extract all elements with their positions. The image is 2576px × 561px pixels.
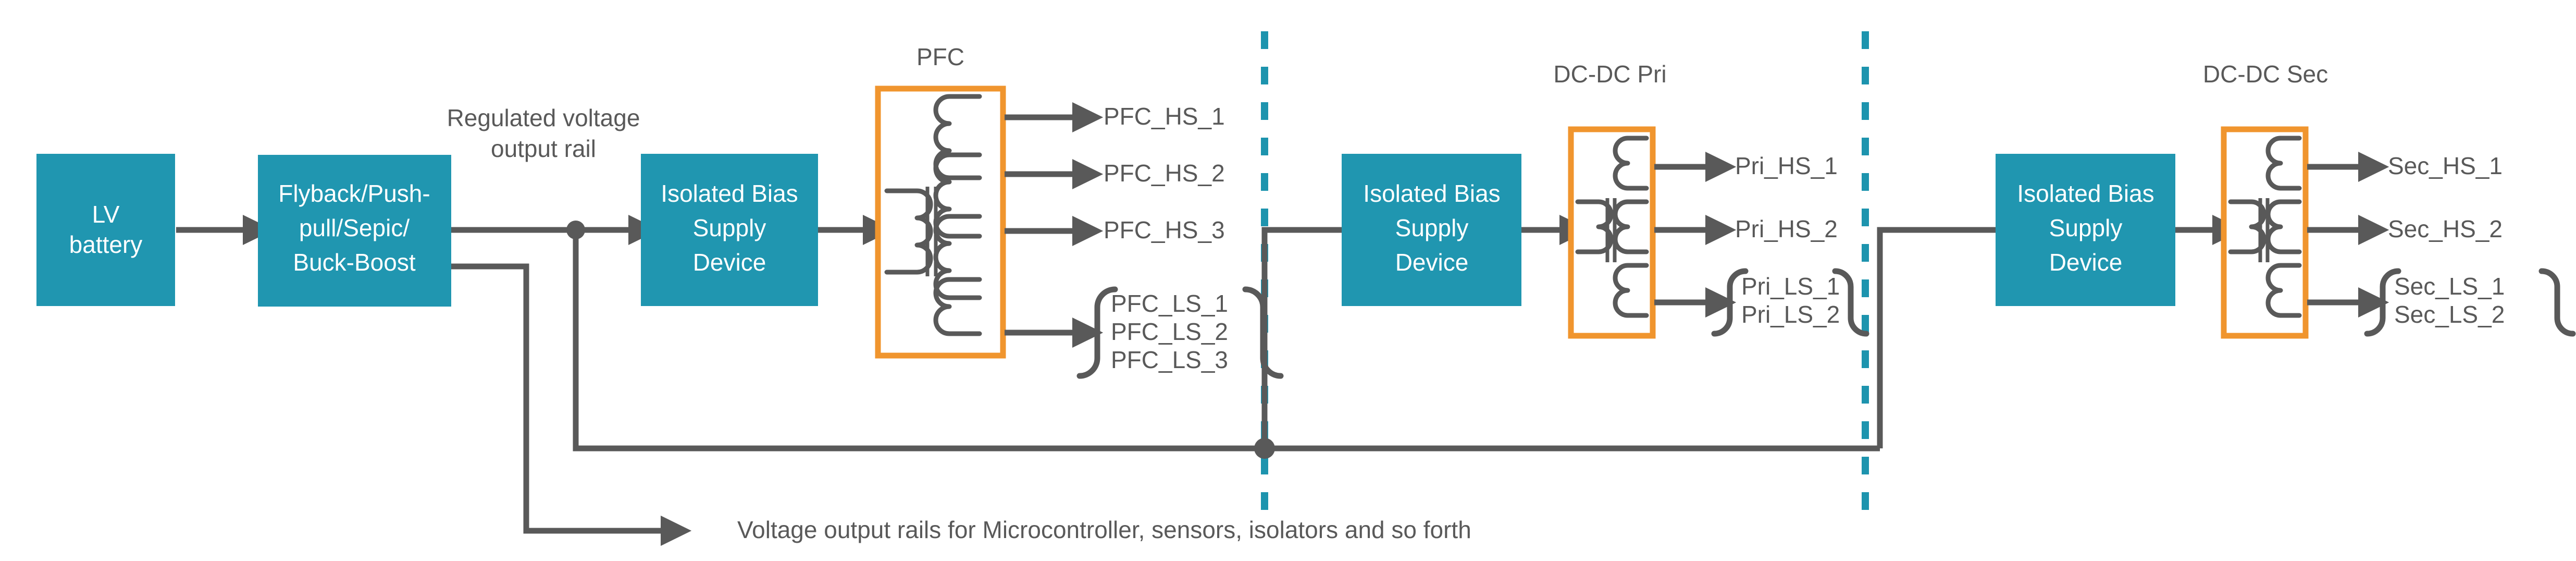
- wire-converter-to-aux-rail: [451, 266, 662, 531]
- label-pfc-hs-1: PFC_HS_1: [1104, 103, 1225, 130]
- block-bias-supply-2[interactable]: Isolated Bias Supply Device: [1342, 154, 1521, 306]
- label-sec-ls-1: Sec_LS_1: [2394, 273, 2505, 300]
- transformer-dcdc-pri-title: DC-DC Pri: [1553, 60, 1666, 88]
- block-bias-supply-2-line-2: Supply: [1395, 214, 1469, 241]
- label-sec-hs-2: Sec_HS_2: [2388, 215, 2503, 242]
- annotation-aux-rail: Voltage output rails for Microcontroller…: [737, 516, 1471, 543]
- label-pri-hs-1: Pri_HS_1: [1735, 152, 1838, 179]
- transformer-dcdc-pri-box: [1571, 129, 1653, 336]
- transformer-pfc[interactable]: PFC: [878, 43, 1003, 356]
- block-bias-supply-3-line-2: Supply: [2049, 214, 2123, 241]
- label-pfc-ls-1: PFC_LS_1: [1111, 290, 1228, 317]
- label-pfc-hs-3: PFC_HS_3: [1104, 216, 1225, 243]
- block-bias-supply-2-line-1: Isolated Bias: [1363, 180, 1500, 207]
- block-lv-battery[interactable]: LV battery: [36, 154, 175, 306]
- block-converter[interactable]: Flyback/Push- pull/Sepic/ Buck-Boost: [258, 155, 451, 307]
- block-bias-supply-3-line-1: Isolated Bias: [2017, 180, 2154, 207]
- label-pri-hs-2: Pri_HS_2: [1735, 215, 1838, 242]
- block-bias-supply-1-line-2: Supply: [693, 214, 766, 241]
- transformer-dcdc-sec-title: DC-DC Sec: [2203, 60, 2328, 88]
- wire-bus-to-bias3: [1880, 230, 2009, 448]
- brace-pfc-ls-right: [1245, 289, 1281, 376]
- transformer-pfc-title: PFC: [917, 43, 964, 70]
- block-bias-supply-3-line-3: Device: [2049, 249, 2123, 276]
- transformer-dcdc-sec-box: [2224, 129, 2306, 336]
- annotation-regulated-rail-line-1: Regulated voltage: [447, 104, 640, 131]
- annotation-regulated-rail: Regulated voltage output rail: [447, 104, 640, 162]
- label-sec-ls-2: Sec_LS_2: [2394, 301, 2505, 328]
- brace-sec-ls-left: [2367, 271, 2398, 334]
- transformer-dcdc-pri-outputs: Pri_HS_1 Pri_HS_2 Pri_LS_1 Pri_LS_2: [1654, 152, 1866, 334]
- label-pri-ls-1: Pri_LS_1: [1741, 273, 1840, 300]
- label-pfc-hs-2: PFC_HS_2: [1104, 160, 1225, 187]
- block-bias-supply-3[interactable]: Isolated Bias Supply Device: [1996, 154, 2175, 306]
- label-pfc-ls-3: PFC_LS_3: [1111, 346, 1228, 373]
- block-bias-supply-1-line-3: Device: [693, 249, 766, 276]
- transformer-dcdc-sec[interactable]: DC-DC Sec: [2203, 60, 2328, 336]
- block-lv-battery-line-2: battery: [69, 231, 143, 258]
- brace-pri-ls-left: [1714, 271, 1745, 334]
- block-converter-line-3: Buck-Boost: [293, 249, 415, 276]
- brace-pfc-ls-left: [1080, 289, 1115, 376]
- label-pfc-ls-2: PFC_LS_2: [1111, 318, 1228, 345]
- brace-sec-ls-right: [2542, 271, 2573, 334]
- annotation-regulated-rail-line-2: output rail: [491, 135, 596, 162]
- transformer-pfc-outputs: PFC_HS_1 PFC_HS_2 PFC_HS_3 PFC_LS_1 PFC_…: [1005, 103, 1281, 376]
- block-converter-line-1: Flyback/Push-: [278, 180, 430, 207]
- transformer-dcdc-sec-outputs: Sec_HS_1 Sec_HS_2 Sec_LS_1 Sec_LS_2: [2307, 152, 2573, 334]
- block-lv-battery-rect: [36, 154, 175, 306]
- block-bias-supply-1[interactable]: Isolated Bias Supply Device: [641, 154, 818, 306]
- label-sec-hs-1: Sec_HS_1: [2388, 152, 2503, 179]
- block-diagram-canvas: LV battery Flyback/Push- pull/Sepic/ Buc…: [0, 0, 2576, 561]
- block-bias-supply-2-line-3: Device: [1395, 249, 1469, 276]
- label-pri-ls-2: Pri_LS_2: [1741, 301, 1840, 328]
- block-converter-line-2: pull/Sepic/: [299, 214, 410, 241]
- block-lv-battery-line-1: LV: [92, 201, 120, 228]
- transformer-dcdc-pri[interactable]: DC-DC Pri: [1553, 60, 1666, 336]
- block-bias-supply-1-line-1: Isolated Bias: [661, 180, 798, 207]
- diagram-svg: LV battery Flyback/Push- pull/Sepic/ Buc…: [0, 0, 2576, 561]
